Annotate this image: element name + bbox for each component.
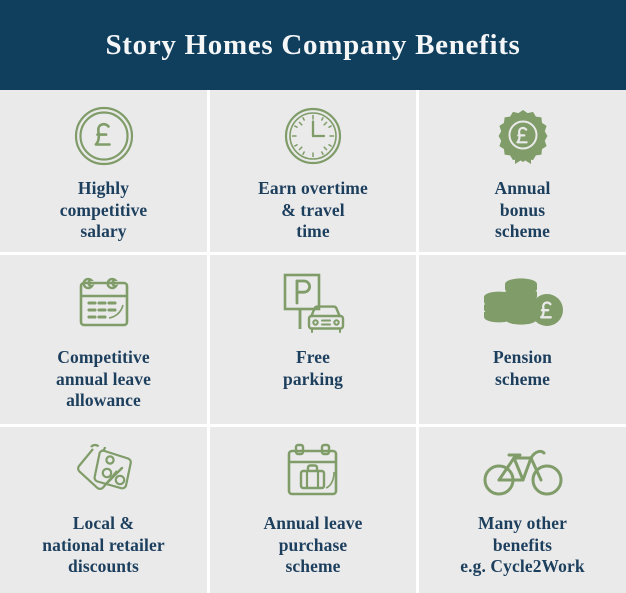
benefit-label: Many other benefits e.g. Cycle2Work [454, 513, 590, 578]
benefit-card-free-parking[interactable]: Free parking [210, 255, 419, 427]
benefit-label: Highly competitive salary [54, 178, 154, 243]
benefit-card-many-other-benefits[interactable]: Many other benefits e.g. Cycle2Work [419, 427, 626, 593]
header-banner: Story Homes Company Benefits [0, 0, 626, 90]
benefit-label: Pension scheme [487, 347, 558, 390]
benefit-card-competitive-annual-leave-allowance[interactable]: Competitive annual leave allowance [0, 255, 210, 427]
calendar-icon [73, 268, 135, 338]
benefit-label: Local & national retailer discounts [36, 513, 170, 578]
bicycle-icon [483, 440, 563, 504]
benefits-grid: Highly competitive salary [0, 90, 626, 593]
benefit-label: Annual bonus scheme [488, 178, 556, 243]
benefit-card-local-national-retailer-discounts[interactable]: Local & national retailer discounts [0, 427, 210, 593]
benefit-label: Earn overtime & travel time [252, 178, 374, 243]
benefit-label: Competitive annual leave allowance [50, 347, 157, 412]
benefit-label: Free parking [277, 347, 349, 390]
parking-sign-car-icon [279, 268, 347, 338]
benefit-card-annual-bonus-scheme[interactable]: Annual bonus scheme [419, 90, 626, 255]
benefit-card-highly-competitive-salary[interactable]: Highly competitive salary [0, 90, 210, 255]
benefit-card-earn-overtime-travel-time[interactable]: Earn overtime & travel time [210, 90, 419, 255]
benefit-card-annual-leave-purchase-scheme[interactable]: Annual leave purchase scheme [210, 427, 419, 593]
calendar-suitcase-icon [282, 440, 344, 504]
clock-icon [282, 103, 344, 169]
benefits-infographic: Story Homes Company Benefits Highly comp… [0, 0, 626, 593]
coin-stacks-pound-icon [481, 268, 565, 338]
benefit-label: Annual leave purchase scheme [258, 513, 369, 578]
pound-coin-outline-icon [73, 103, 135, 169]
price-tags-percent-icon [69, 440, 139, 504]
page-title: Story Homes Company Benefits [105, 31, 520, 60]
award-rosette-pound-icon [491, 103, 555, 169]
benefit-card-pension-scheme[interactable]: Pension scheme [419, 255, 626, 427]
